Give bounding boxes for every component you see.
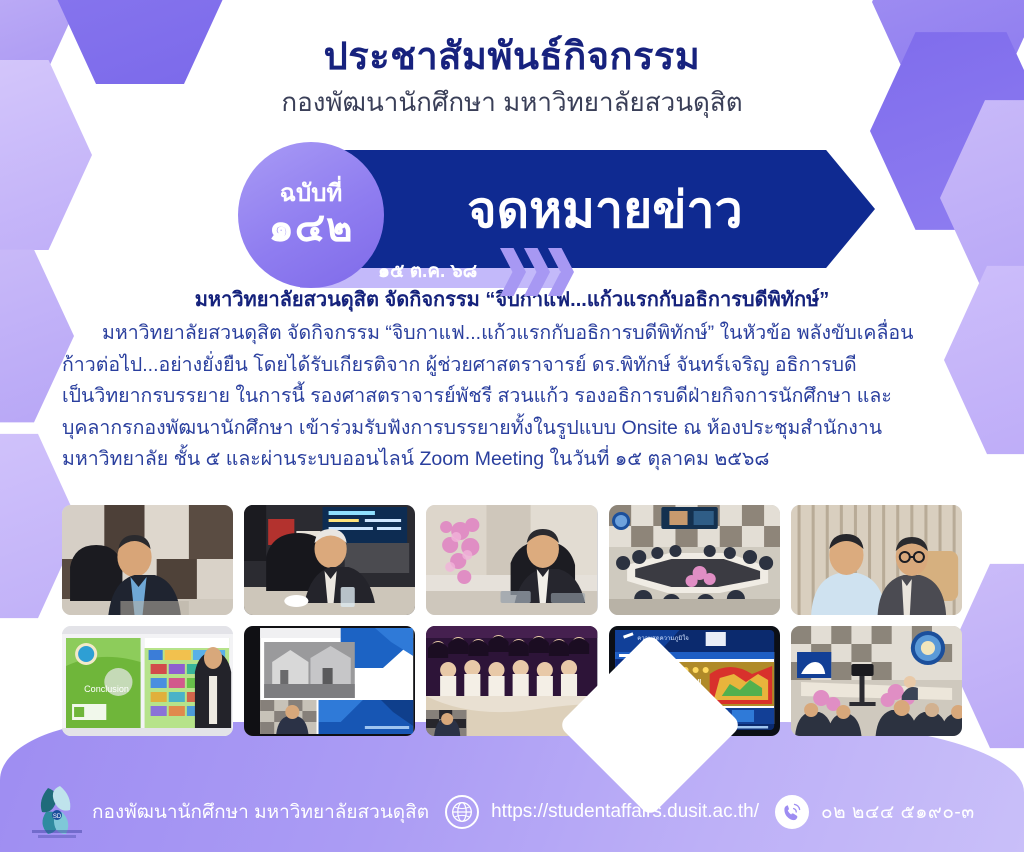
article-line-text: เป็นวิทยากรบรรยาย ในการนี้ รองศาสตราจารย… <box>62 385 892 407</box>
issue-number: ๑๔๒ <box>268 208 353 248</box>
photo-gallery: Conclusion <box>62 505 962 736</box>
banner-title: จดหมายข่าว <box>395 164 815 256</box>
article-paragraph: มหาวิทยาลัยสวนดุสิต จัดกิจกรรม “จิบกาแฟ.… <box>62 318 962 476</box>
photo-audience-seated <box>791 626 962 736</box>
article-line: มหาวิทยาลัย ชั้น ๕ และผ่านระบบออนไลน์ Zo… <box>62 444 962 476</box>
page-subtitle: กองพัฒนานักศึกษา มหาวิทยาลัยสวนดุสิต <box>0 84 1024 120</box>
article-line: เป็นวิทยากรบรรยาย ในการนี้ รองศาสตราจารย… <box>62 381 962 413</box>
photo-meeting-room-wide <box>609 505 780 615</box>
photo-speaker-with-flowers <box>426 505 597 615</box>
phone-icon <box>775 795 809 829</box>
newsletter-banner: จดหมายข่าว ฉบับที่ ๑๔๒ ๑๕ ต.ค. ๖๘ <box>0 142 1024 282</box>
photo-executive-portrait-1 <box>62 505 233 615</box>
suan-dusit-student-affairs-logo: SD <box>26 782 88 842</box>
svg-text:Conclusion: Conclusion <box>84 684 129 694</box>
article-line-text: มหาวิทยาลัยสวนดุสิต จัดกิจกรรม “จิบกาแฟ.… <box>102 322 913 344</box>
photo-zoom-slide-history <box>244 626 415 736</box>
article-line: มหาวิทยาลัยสวนดุสิต จัดกิจกรรม “จิบกาแฟ.… <box>62 318 962 350</box>
newsletter-poster: ประชาสัมพันธ์กิจกรรม กองพัฒนานักศึกษา มห… <box>0 0 1024 852</box>
banner-date: ๑๕ ต.ค. ๖๘ <box>378 254 477 288</box>
photo-two-attendees <box>791 505 962 615</box>
photo-executive-speaking <box>244 505 415 615</box>
photo-zoom-slide-conclusion: Conclusion <box>62 626 233 736</box>
article-line: บุคลากรกองพัฒนานักศึกษา เข้าร่วมรับฟังกา… <box>62 413 962 445</box>
article-line-text: บุคลากรกองพัฒนานักศึกษา เข้าร่วมรับฟังกา… <box>62 417 882 439</box>
footer-organization: กองพัฒนานักศึกษา มหาวิทยาลัยสวนดุสิต <box>92 797 429 827</box>
article-line: ก้าวต่อไป...อย่างยั่งยืน โดยได้รับเกียรต… <box>62 350 962 382</box>
article-body: มหาวิทยาลัยสวนดุสิต จัดกิจกรรม “จิบกาแฟ.… <box>62 286 962 476</box>
article-line-text: ก้าวต่อไป...อย่างยั่งยืน โดยได้รับเกียรต… <box>62 354 857 376</box>
issue-label: ฉบับที่ <box>280 182 343 206</box>
footer-bar: SD กองพัฒนานักศึกษา มหาวิทยาลัยสวนดุสิต … <box>0 790 1024 834</box>
poster-header: ประชาสัมพันธ์กิจกรรม กองพัฒนานักศึกษา มห… <box>0 34 1024 120</box>
article-line-text: มหาวิทยาลัย ชั้น ๕ และผ่านระบบออนไลน์ Zo… <box>62 448 769 470</box>
footer-phone-number: ๐๒ ๒๔๔ ๕๑๙๐-๓ <box>821 797 975 827</box>
page-title: ประชาสัมพันธ์กิจกรรม <box>0 34 1024 82</box>
footer-website-link[interactable]: https://studentaffairs.dusit.ac.th/ <box>491 801 759 823</box>
globe-icon <box>445 795 479 829</box>
svg-text:SD: SD <box>53 814 62 820</box>
issue-badge: ฉบับที่ ๑๔๒ <box>238 142 384 288</box>
